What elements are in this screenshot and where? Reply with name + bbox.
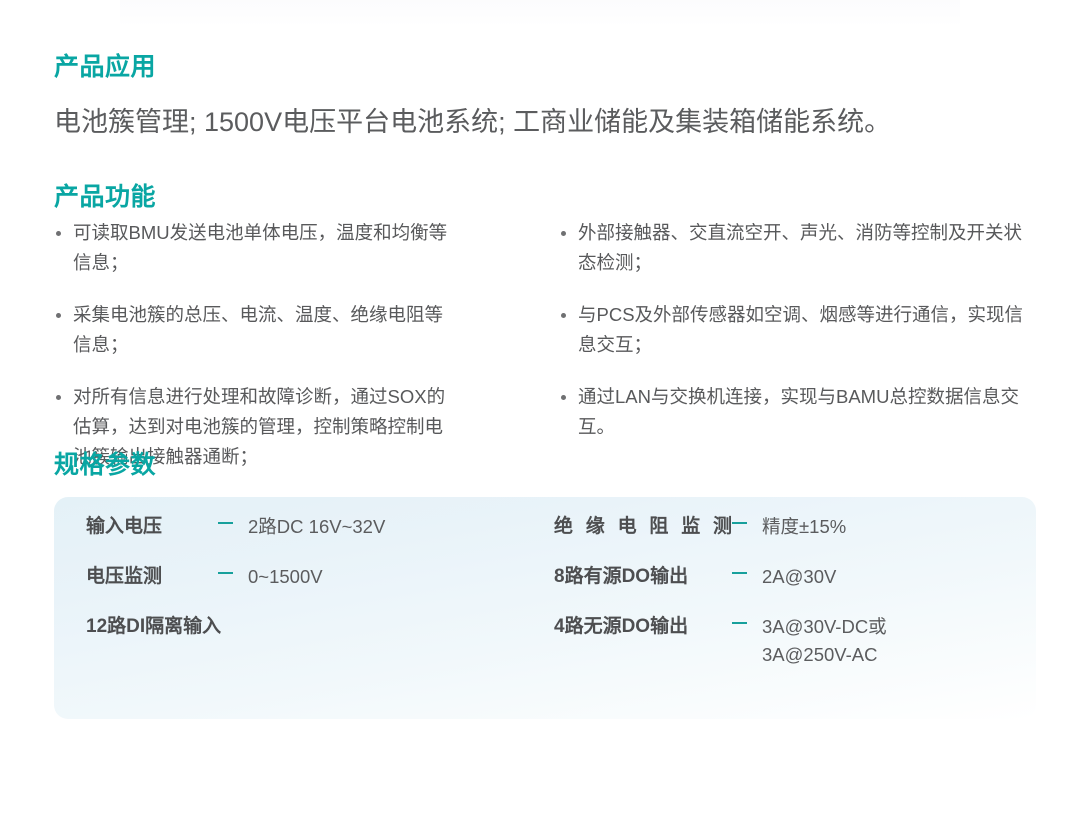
dash-icon xyxy=(218,563,248,591)
table-row: 8路有源DO输出 2A@30V xyxy=(554,563,1014,613)
list-item: 与PCS及外部传感器如空调、烟感等进行通信，实现信息交互； xyxy=(559,300,1029,360)
datasheet-page: 产品应用 电池簇管理; 1500V电压平台电池系统; 工商业储能及集装箱储能系统… xyxy=(0,0,1076,813)
section-heading-application: 产品应用 xyxy=(54,52,156,82)
table-row: 输入电压 2路DC 16V~32V xyxy=(86,513,526,563)
spec-column-right: 绝缘电阻监测 精度±15% 8路有源DO输出 2A@30V 4路无源DO输出 3… xyxy=(554,513,1014,663)
dash-icon xyxy=(732,613,762,641)
section-heading-specs: 规格参数 xyxy=(54,450,156,480)
section-heading-functions: 产品功能 xyxy=(54,182,156,212)
spec-label: 8路有源DO输出 xyxy=(554,563,732,591)
spec-label: 12路DI隔离输入 xyxy=(86,613,218,641)
list-item: 通过LAN与交换机连接，实现与BAMU总控数据信息交互。 xyxy=(559,382,1029,442)
feature-column-right: 外部接触器、交直流空开、声光、消防等控制及开关状态检测； 与PCS及外部传感器如… xyxy=(559,218,1029,464)
table-row: 绝缘电阻监测 精度±15% xyxy=(554,513,1014,563)
page-top-bleed-artifact xyxy=(120,0,960,26)
spec-value: 精度±15% xyxy=(762,513,1014,541)
spec-value: 0~1500V xyxy=(248,563,526,591)
dash-icon xyxy=(218,513,248,541)
spec-value: 3A@30V-DC或 3A@250V-AC xyxy=(762,613,1014,669)
spec-label: 绝缘电阻监测 xyxy=(554,513,732,541)
table-row: 4路无源DO输出 3A@30V-DC或 3A@250V-AC xyxy=(554,613,1014,663)
application-text: 电池簇管理; 1500V电压平台电池系统; 工商业储能及集装箱储能系统。 xyxy=(54,100,891,139)
spec-value: 2路DC 16V~32V xyxy=(248,513,526,541)
spec-label: 电压监测 xyxy=(86,563,218,591)
spec-column-left: 输入电压 2路DC 16V~32V 电压监测 0~1500V 12路DI隔离输入 xyxy=(86,513,526,663)
dash-icon xyxy=(732,563,762,591)
list-item: 外部接触器、交直流空开、声光、消防等控制及开关状态检测； xyxy=(559,218,1029,278)
spec-label: 4路无源DO输出 xyxy=(554,613,732,641)
spec-value: 2A@30V xyxy=(762,563,1014,591)
list-item: 可读取BMU发送电池单体电压，温度和均衡等信息； xyxy=(54,218,454,278)
spec-table: 输入电压 2路DC 16V~32V 电压监测 0~1500V 12路DI隔离输入 xyxy=(54,497,1036,719)
table-row: 电压监测 0~1500V xyxy=(86,563,526,613)
spec-label: 输入电压 xyxy=(86,513,218,541)
dash-icon xyxy=(732,513,762,541)
table-row: 12路DI隔离输入 xyxy=(86,613,526,663)
list-item: 采集电池簇的总压、电流、温度、绝缘电阻等信息； xyxy=(54,300,454,360)
